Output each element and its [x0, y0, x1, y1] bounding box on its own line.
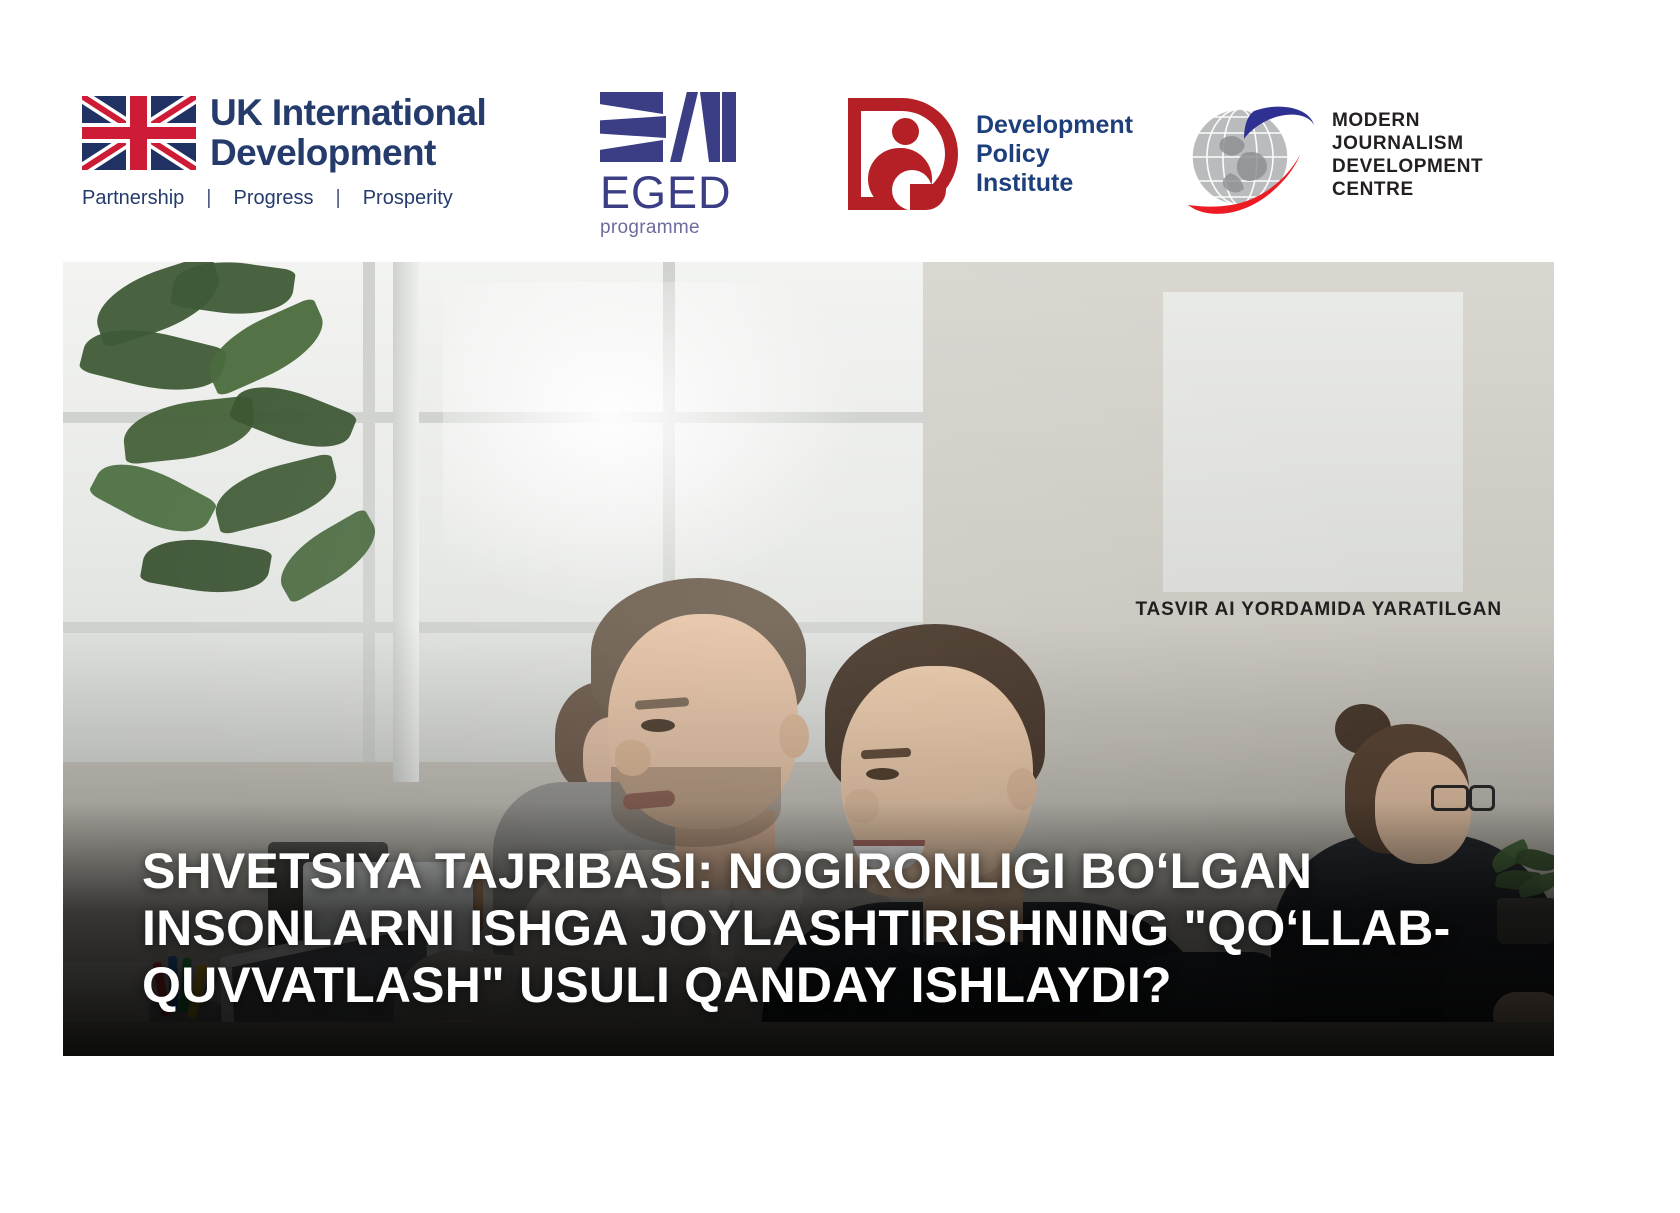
ukid-tagline: Partnership | Progress | Prosperity	[82, 187, 522, 210]
dpi-person-monogram-icon	[848, 98, 958, 210]
ukid-tagline-separator-1: |	[206, 187, 211, 210]
dpi-line-1: Development	[976, 111, 1133, 140]
mjdc-line-2: JOURNALISM	[1332, 132, 1483, 155]
partner-logo-bar: UK International Development Partnership…	[0, 0, 1680, 258]
dpi-wordmark: Development Policy Institute	[976, 111, 1133, 198]
globe-with-swoosh-icon	[1178, 95, 1318, 215]
ukid-tagline-prosperity: Prosperity	[363, 187, 453, 210]
eged-subtitle: programme	[600, 217, 750, 239]
ukid-tagline-separator-2: |	[336, 187, 341, 210]
ukid-logo-line-1: UK International	[210, 93, 486, 133]
article-hero-page: UK International Development Partnership…	[0, 0, 1680, 1213]
mjdc-line-4: CENTRE	[1332, 178, 1483, 201]
hero-image: TASVIR AI YORDAMIDA YARATILGAN SHVETSIYA…	[63, 262, 1554, 1056]
ukid-logo-line-2: Development	[210, 133, 486, 173]
mjdc-line-1: MODERN	[1332, 109, 1483, 132]
development-policy-institute-logo: Development Policy Institute	[848, 98, 1133, 210]
eged-programme-logo: EGED programme	[600, 92, 750, 222]
mjdc-line-3: DEVELOPMENT	[1332, 155, 1483, 178]
uk-international-development-logo: UK International Development Partnership…	[82, 93, 522, 218]
eged-stylised-flag-icon	[600, 92, 736, 162]
ukid-tagline-partnership: Partnership	[82, 187, 184, 210]
eged-wordmark: EGED	[600, 170, 750, 216]
ai-generated-credit: TASVIR AI YORDAMIDA YARATILGAN	[1135, 599, 1502, 621]
union-jack-flag-icon	[82, 96, 196, 170]
dpi-line-3: Institute	[976, 169, 1133, 198]
modern-journalism-development-centre-logo: MODERN JOURNALISM DEVELOPMENT CENTRE	[1178, 95, 1483, 215]
ukid-tagline-progress: Progress	[233, 187, 313, 210]
mjdc-wordmark: MODERN JOURNALISM DEVELOPMENT CENTRE	[1332, 109, 1483, 201]
dpi-line-2: Policy	[976, 140, 1133, 169]
article-headline: SHVETSIYA TAJRIBASI: NOGIRONLIGI BO‘LGAN…	[142, 843, 1502, 1014]
